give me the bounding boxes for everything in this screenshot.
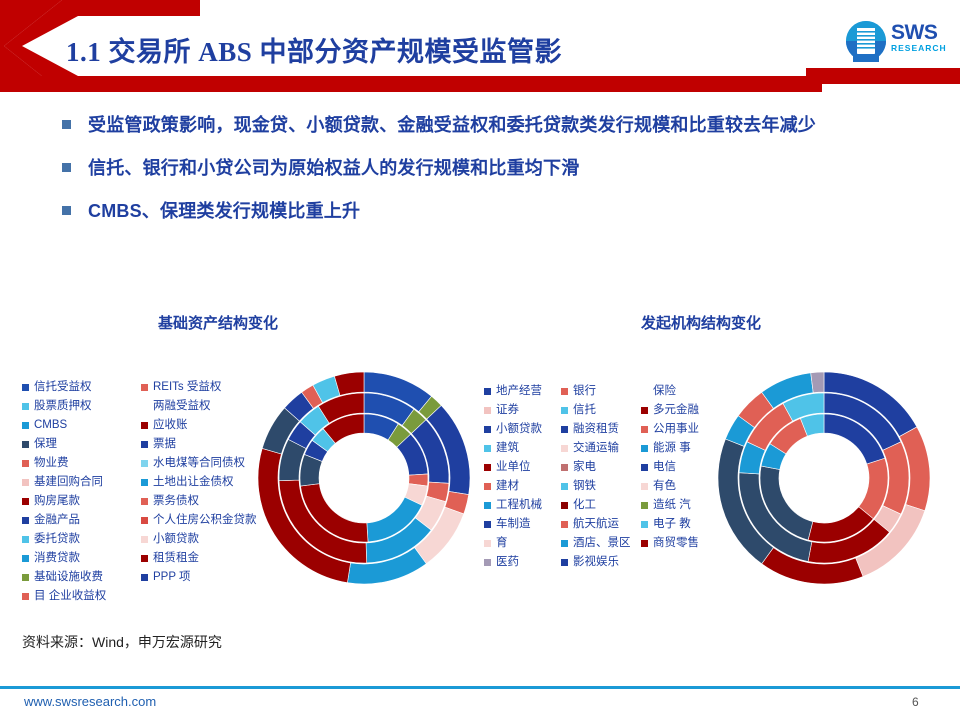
- legend-swatch-icon: [22, 384, 29, 391]
- legend-swatch-icon: [141, 555, 148, 562]
- legend-originator-item[interactable]: 电信: [641, 458, 699, 477]
- legend-label: 能源 事: [653, 442, 691, 455]
- bullet-text: 信托、银行和小贷公司为原始权益人的发行规模和比重均下滑: [88, 155, 579, 182]
- footer-url-link[interactable]: www.swsresearch.com: [24, 694, 156, 709]
- legend-swatch-icon: [484, 407, 491, 414]
- legend-originator-item[interactable]: 多元金融: [641, 401, 699, 420]
- legend-swatch-icon: [22, 479, 29, 486]
- bullet-item: CMBS、保理类发行规模比重上升: [62, 198, 822, 225]
- legend-originator-item[interactable]: 地产经营: [484, 382, 542, 401]
- legend-label: 建筑: [496, 442, 519, 455]
- source-note: 资料来源：Wind，申万宏源研究: [22, 632, 222, 652]
- legend-label: 工程机械: [496, 499, 542, 512]
- legend-swatch-icon: [141, 441, 148, 448]
- donut-chart-asset-structure[interactable]: [258, 372, 470, 584]
- legend-label: 育: [496, 537, 508, 550]
- legend-label: 有色: [653, 480, 676, 493]
- legend-label: 消费贷款: [34, 552, 80, 565]
- legend-swatch-icon: [561, 407, 568, 414]
- legend-asset-item[interactable]: 股票质押权: [22, 397, 106, 416]
- slide-page: 1.1 交易所 ABS 中部分资产规模受监管影 SWS RESEARCH: [0, 0, 960, 720]
- legend-swatch-icon: [141, 498, 148, 505]
- legend-originator-item[interactable]: 小额贷款: [484, 420, 542, 439]
- legend-label: 基建回购合同: [34, 476, 103, 489]
- legend-swatch-icon: [22, 555, 29, 562]
- legend-label: 影视娱乐: [573, 556, 619, 569]
- legend-swatch-icon: [641, 426, 648, 433]
- legend-swatch-icon: [141, 403, 148, 410]
- legend-asset-item[interactable]: 物业费: [22, 454, 106, 473]
- logo-sub-text: RESEARCH: [891, 43, 947, 53]
- legend-swatch-icon: [484, 483, 491, 490]
- bullet-text: 受监管政策影响，现金贷、小额贷款、金融受益权和委托贷款类发行规模和比重较去年减少: [88, 112, 816, 139]
- legend-asset-item[interactable]: 个人住房公积金贷款: [141, 511, 257, 530]
- legend-swatch-icon: [22, 422, 29, 429]
- legend-swatch-icon: [22, 593, 29, 600]
- legend-swatch-icon: [561, 483, 568, 490]
- legend-originator-item[interactable]: 证券: [484, 401, 542, 420]
- legend-label: 商贸零售: [653, 537, 699, 550]
- legend-label: 银行: [573, 385, 596, 398]
- legend-label: 多元金融: [653, 404, 699, 417]
- slide-header: 1.1 交易所 ABS 中部分资产规模受监管影 SWS RESEARCH: [0, 0, 960, 92]
- legend-label: 建材: [496, 480, 519, 493]
- legend-originator-item[interactable]: 建材: [484, 477, 542, 496]
- legend-swatch-icon: [641, 407, 648, 414]
- legend-label: 购房尾款: [34, 495, 80, 508]
- legend-swatch-icon: [141, 460, 148, 467]
- legend-asset-item[interactable]: 信托受益权: [22, 378, 106, 397]
- logo-wordmark: SWS RESEARCH: [891, 22, 947, 53]
- legend-label: 医药: [496, 556, 519, 569]
- header-red-bar-left: [0, 76, 812, 92]
- legend-originator-item[interactable]: 能源 事: [641, 439, 699, 458]
- legend-swatch-icon: [641, 540, 648, 547]
- legend-label: 公用事业: [653, 423, 699, 436]
- legend-label: 小额贷款: [153, 533, 199, 546]
- legend-asset-item[interactable]: 土地出让金债权: [141, 473, 257, 492]
- legend-originator-item[interactable]: 建筑: [484, 439, 542, 458]
- legend-originator-item[interactable]: 信托: [561, 401, 631, 420]
- legend-asset-item[interactable]: 购房尾款: [22, 492, 106, 511]
- legend-swatch-icon: [484, 502, 491, 509]
- legend-originator-item[interactable]: 商贸零售: [641, 534, 699, 553]
- legend-label: PPP 项: [153, 571, 191, 584]
- legend-asset-item[interactable]: 租赁租金: [141, 549, 257, 568]
- legend-label: 车制造: [496, 518, 531, 531]
- legend-swatch-icon: [22, 536, 29, 543]
- legend-swatch-icon: [22, 460, 29, 467]
- legend-swatch-icon: [561, 388, 568, 395]
- legend-asset-item[interactable]: 金融产品: [22, 511, 106, 530]
- legend-label: 保理: [34, 438, 57, 451]
- legend-label: 电子 教: [653, 518, 691, 531]
- legend-label: 地产经营: [496, 385, 542, 398]
- legend-asset-item[interactable]: 基建回购合同: [22, 473, 106, 492]
- legend-originator-item[interactable]: 医药: [484, 553, 542, 572]
- legend-swatch-icon: [641, 521, 648, 528]
- legend-originator-item[interactable]: 保险: [641, 382, 699, 401]
- legend-asset-item[interactable]: 票务债权: [141, 492, 257, 511]
- legend-label: 基础设施收费: [34, 571, 103, 584]
- legend-swatch-icon: [641, 483, 648, 490]
- legend-label: 小额贷款: [496, 423, 542, 436]
- header-red-bar-right: [806, 68, 960, 84]
- legend-originator-item[interactable]: 融资租赁: [561, 420, 631, 439]
- legend-asset-item[interactable]: CMBS: [22, 416, 106, 435]
- legend-label: 租赁租金: [153, 552, 199, 565]
- legend-swatch-icon: [141, 517, 148, 524]
- legend-label: 物业费: [34, 457, 69, 470]
- legend-label: 化工: [573, 499, 596, 512]
- legend-label: 股票质押权: [34, 400, 92, 413]
- legend-asset-item[interactable]: 小额贷款: [141, 530, 257, 549]
- legend-swatch-icon: [641, 388, 648, 395]
- legend-originator-item[interactable]: 造纸 汽: [641, 496, 699, 515]
- bullet-square-icon: [62, 163, 71, 172]
- legend-label: 票据: [153, 438, 176, 451]
- legend-label: 委托贷款: [34, 533, 80, 546]
- legend-swatch-icon: [22, 441, 29, 448]
- legend-originator-item[interactable]: 电子 教: [641, 515, 699, 534]
- legend-originator-item[interactable]: 化工: [561, 496, 631, 515]
- legend-asset-item[interactable]: REITs 受益权: [141, 378, 257, 397]
- chart-title-left: 基础资产结构变化: [158, 312, 278, 333]
- legend-swatch-icon: [141, 422, 148, 429]
- legend-asset-item[interactable]: 委托贷款: [22, 530, 106, 549]
- legend-originator-item[interactable]: 钢铁: [561, 477, 631, 496]
- chart-title-right: 发起机构结构变化: [641, 312, 761, 333]
- legend-originator-item[interactable]: 银行: [561, 382, 631, 401]
- page-number: 6: [912, 695, 919, 709]
- legend-originator-item[interactable]: 航天航运: [561, 515, 631, 534]
- legend-originator-item[interactable]: 公用事业: [641, 420, 699, 439]
- legend-swatch-icon: [561, 559, 568, 566]
- legend-swatch-icon: [22, 517, 29, 524]
- legend-label: 土地出让金债权: [153, 476, 234, 489]
- legend-swatch-icon: [141, 384, 148, 391]
- legend-swatch-icon: [484, 464, 491, 471]
- legend-label: 电信: [653, 461, 676, 474]
- legend-swatch-icon: [561, 502, 568, 509]
- sws-globe-icon: [845, 20, 887, 62]
- legend-asset-item[interactable]: 保理: [22, 435, 106, 454]
- legend-originator-item[interactable]: 车制造: [484, 515, 542, 534]
- legend-swatch-icon: [641, 445, 648, 452]
- legend-originator-column-3: 保险多元金融公用事业能源 事电信有色造纸 汽电子 教商贸零售: [641, 382, 699, 553]
- legend-label: REITs 受益权: [153, 381, 221, 394]
- legend-label: 造纸 汽: [653, 499, 691, 512]
- legend-label: 信托受益权: [34, 381, 92, 394]
- legend-label: 酒店、景区: [573, 537, 631, 550]
- legend-swatch-icon: [22, 498, 29, 505]
- donut-slice[interactable]: [334, 372, 364, 395]
- bullet-list: 受监管政策影响，现金贷、小额贷款、金融受益权和委托贷款类发行规模和比重较去年减少…: [62, 112, 822, 241]
- legend-asset-item[interactable]: 消费贷款: [22, 549, 106, 568]
- legend-label: 家电: [573, 461, 596, 474]
- legend-label: 两融受益权: [153, 400, 211, 413]
- donut-slice[interactable]: [811, 372, 824, 393]
- legend-asset-item[interactable]: 应收账: [141, 416, 257, 435]
- legend-label: 交通运输: [573, 442, 619, 455]
- legend-swatch-icon: [484, 540, 491, 547]
- legend-swatch-icon: [484, 559, 491, 566]
- legend-originator-item[interactable]: 家电: [561, 458, 631, 477]
- legend-label: 水电煤等合同债权: [153, 457, 245, 470]
- legend-swatch-icon: [484, 388, 491, 395]
- legend-asset-item[interactable]: 票据: [141, 435, 257, 454]
- legend-originator-item[interactable]: 有色: [641, 477, 699, 496]
- legend-swatch-icon: [641, 502, 648, 509]
- legend-label: 证券: [496, 404, 519, 417]
- legend-originator-column-2: 银行信托融资租赁交通运输家电钢铁化工航天航运酒店、景区影视娱乐: [561, 382, 631, 572]
- bullet-text: CMBS、保理类发行规模比重上升: [88, 198, 360, 225]
- legend-originator-item[interactable]: 育: [484, 534, 542, 553]
- legend-swatch-icon: [561, 445, 568, 452]
- legend-originator-item[interactable]: 酒店、景区: [561, 534, 631, 553]
- legend-asset-column-2: REITs 受益权两融受益权应收账票据水电煤等合同债权土地出让金债权票务债权个人…: [141, 378, 257, 587]
- legend-swatch-icon: [141, 479, 148, 486]
- legend-label: 金融产品: [34, 514, 80, 527]
- legend-swatch-icon: [641, 464, 648, 471]
- legend-originator-column-1: 地产经营证券小额贷款建筑业单位建材工程机械车制造育医药: [484, 382, 542, 572]
- legend-label: 保险: [653, 385, 676, 398]
- footer-divider: [0, 686, 960, 689]
- legend-label: 业单位: [496, 461, 531, 474]
- bullet-square-icon: [62, 120, 71, 129]
- legend-asset-item[interactable]: PPP 项: [141, 568, 257, 587]
- legend-swatch-icon: [561, 521, 568, 528]
- legend-swatch-icon: [22, 403, 29, 410]
- page-title: 1.1 交易所 ABS 中部分资产规模受监管影: [66, 30, 562, 69]
- legend-swatch-icon: [484, 426, 491, 433]
- legend-label: 个人住房公积金贷款: [153, 514, 257, 527]
- donut-chart-originator-structure[interactable]: [718, 372, 930, 584]
- sws-research-logo[interactable]: SWS RESEARCH: [845, 18, 951, 66]
- legend-originator-item[interactable]: 业单位: [484, 458, 542, 477]
- legend-asset-item[interactable]: 两融受益权: [141, 397, 257, 416]
- legend-originator-item[interactable]: 影视娱乐: [561, 553, 631, 572]
- legend-label: 票务债权: [153, 495, 199, 508]
- legend-asset-item[interactable]: 水电煤等合同债权: [141, 454, 257, 473]
- legend-label: 应收账: [153, 419, 188, 432]
- legend-swatch-icon: [22, 574, 29, 581]
- bullet-item: 信托、银行和小贷公司为原始权益人的发行规模和比重均下滑: [62, 155, 822, 182]
- legend-swatch-icon: [484, 521, 491, 528]
- legend-swatch-icon: [561, 426, 568, 433]
- legend-swatch-icon: [484, 445, 491, 452]
- legend-swatch-icon: [141, 574, 148, 581]
- legend-label: 航天航运: [573, 518, 619, 531]
- legend-label: 钢铁: [573, 480, 596, 493]
- legend-swatch-icon: [561, 464, 568, 471]
- logo-brand-text: SWS: [891, 22, 947, 43]
- legend-swatch-icon: [561, 540, 568, 547]
- legend-asset-column-1: 信托受益权股票质押权CMBS保理物业费基建回购合同购房尾款金融产品委托贷款消费贷…: [22, 378, 106, 606]
- legend-asset-item[interactable]: 基础设施收费: [22, 568, 106, 587]
- legend-label: CMBS: [34, 419, 67, 432]
- legend-label: 目 企业收益权: [34, 590, 106, 603]
- legend-asset-item[interactable]: 目 企业收益权: [22, 587, 106, 606]
- legend-originator-item[interactable]: 交通运输: [561, 439, 631, 458]
- legend-originator-item[interactable]: 工程机械: [484, 496, 542, 515]
- legend-label: 融资租赁: [573, 423, 619, 436]
- bullet-item: 受监管政策影响，现金贷、小额贷款、金融受益权和委托贷款类发行规模和比重较去年减少: [62, 112, 822, 139]
- legend-label: 信托: [573, 404, 596, 417]
- bullet-square-icon: [62, 206, 71, 215]
- legend-swatch-icon: [141, 536, 148, 543]
